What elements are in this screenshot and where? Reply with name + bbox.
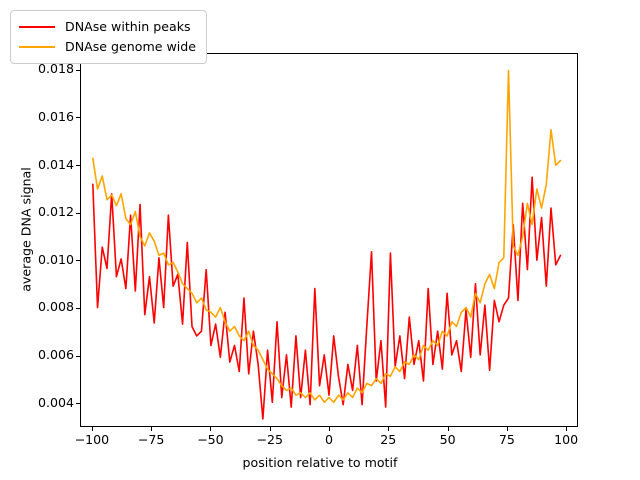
x-tick-label: −25 xyxy=(256,434,283,447)
x-tick-mark xyxy=(210,427,211,431)
x-axis-label: position relative to motif xyxy=(0,455,640,470)
legend-item-1[interactable]: DNAse genome wide xyxy=(19,37,196,57)
series-group xyxy=(93,71,561,419)
y-tick-mark xyxy=(76,117,80,118)
legend-item-0[interactable]: DNAse within peaks xyxy=(19,17,196,37)
legend-box: DNAse within peaks DNAse genome wide xyxy=(10,10,207,64)
legend-label-0: DNAse within peaks xyxy=(65,20,191,34)
x-tick-label: 100 xyxy=(554,434,578,447)
x-tick-label: −75 xyxy=(138,434,165,447)
legend-line-swatch-orange xyxy=(19,46,55,48)
x-tick-label: 25 xyxy=(380,434,396,447)
plot-area xyxy=(80,53,578,427)
x-tick-mark xyxy=(388,427,389,431)
plot-svg xyxy=(81,54,577,426)
y-tick-label: 0.008 xyxy=(38,301,74,314)
y-tick-label: 0.012 xyxy=(38,206,74,219)
x-tick-label: 75 xyxy=(499,434,515,447)
y-tick-label: 0.018 xyxy=(38,63,74,76)
x-tick-label: −100 xyxy=(75,434,110,447)
y-tick-label: 0.006 xyxy=(38,349,74,362)
y-tick-mark xyxy=(76,308,80,309)
legend-label-1: DNAse genome wide xyxy=(65,40,196,54)
x-tick-mark xyxy=(507,427,508,431)
x-tick-mark xyxy=(151,427,152,431)
x-tick-label: 50 xyxy=(440,434,456,447)
legend-line-swatch-red xyxy=(19,26,55,28)
x-tick-mark xyxy=(448,427,449,431)
y-tick-label: 0.010 xyxy=(38,254,74,267)
y-tick-mark xyxy=(76,70,80,71)
figure-canvas: 0.0040.0060.0080.0100.0120.0140.0160.018… xyxy=(0,0,640,480)
y-tick-label: 0.016 xyxy=(38,111,74,124)
x-tick-mark xyxy=(270,427,271,431)
x-tick-mark xyxy=(92,427,93,431)
series-line-0 xyxy=(93,177,561,419)
y-tick-label: 0.014 xyxy=(38,159,74,172)
y-tick-mark xyxy=(76,260,80,261)
y-tick-mark xyxy=(76,165,80,166)
x-tick-label: 0 xyxy=(325,434,333,447)
y-tick-mark xyxy=(76,213,80,214)
x-tick-mark xyxy=(329,427,330,431)
x-tick-mark xyxy=(566,427,567,431)
y-tick-mark xyxy=(76,403,80,404)
x-tick-label: −50 xyxy=(197,434,224,447)
y-axis-label: average DNA signal xyxy=(19,0,34,470)
y-tick-label: 0.004 xyxy=(38,397,74,410)
y-tick-mark xyxy=(76,356,80,357)
